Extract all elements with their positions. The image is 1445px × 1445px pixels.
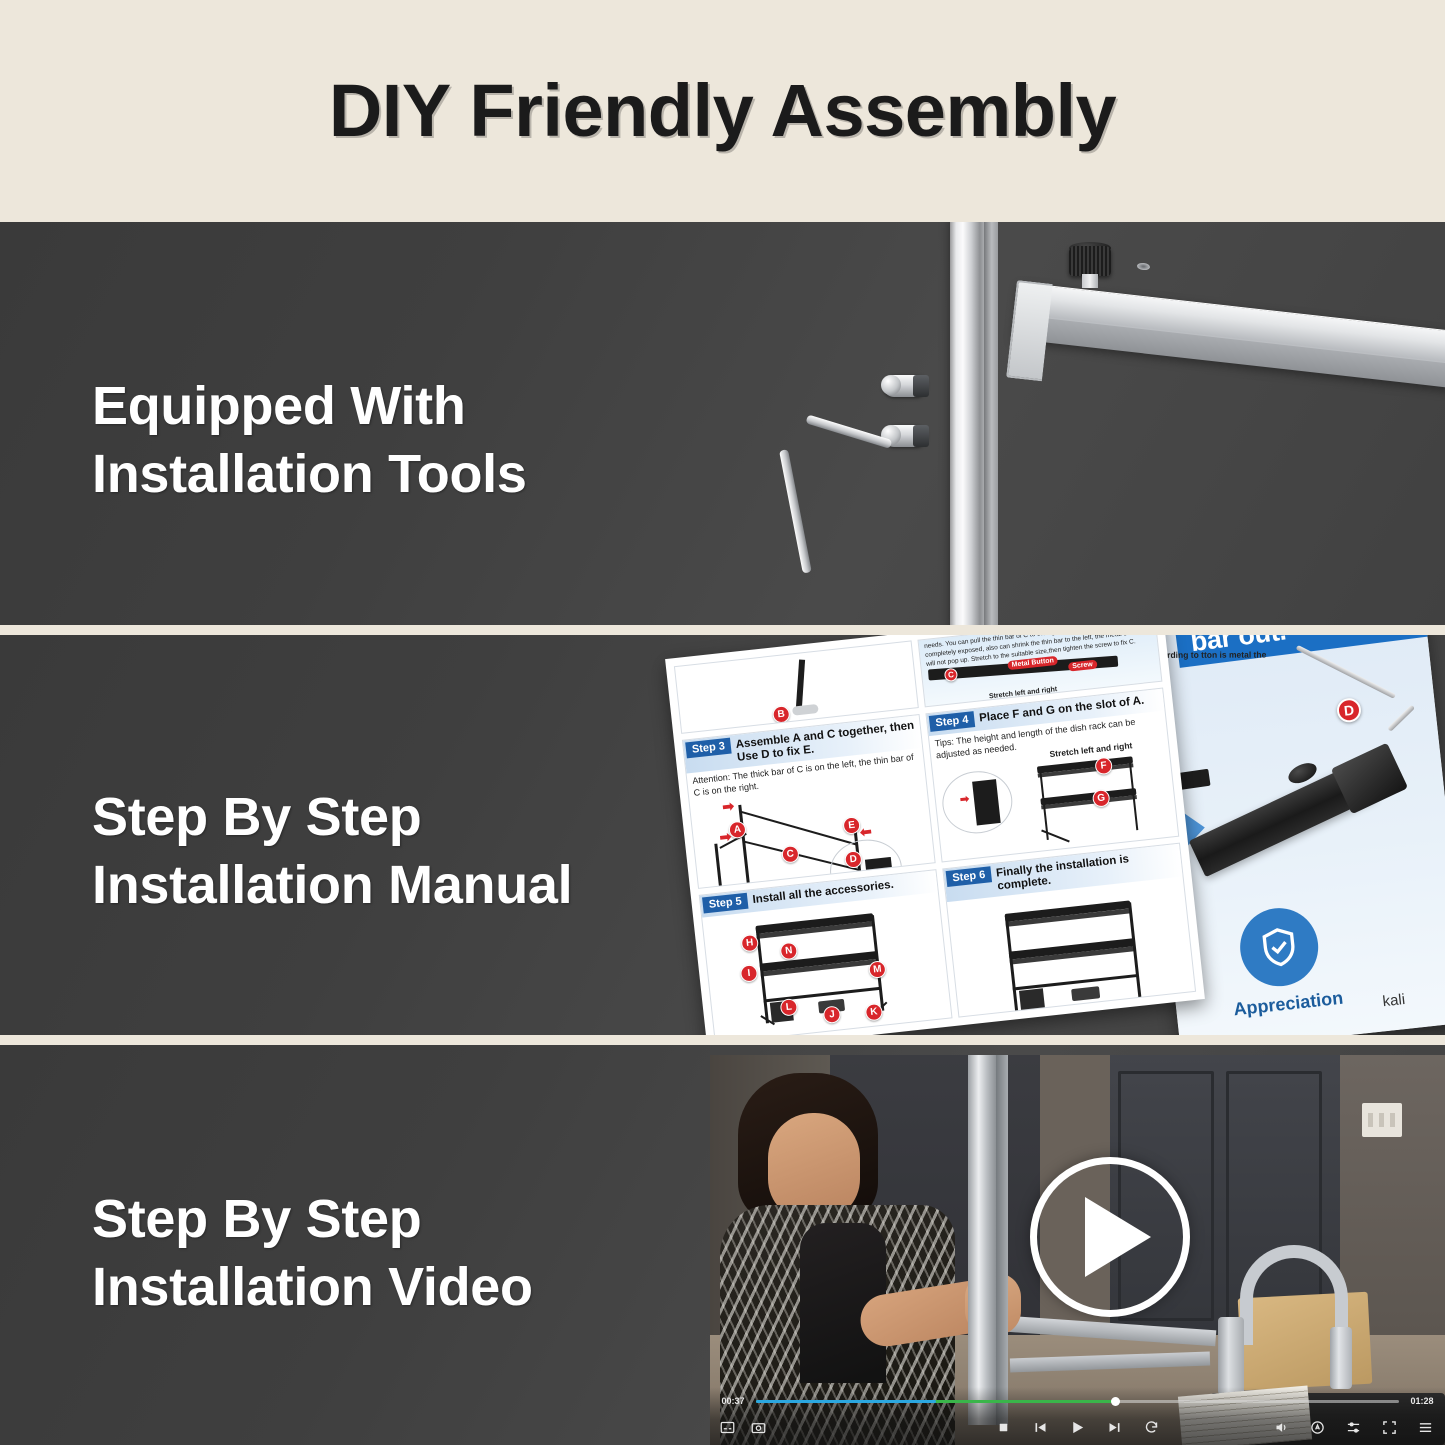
bar-face (1014, 315, 1445, 388)
badge-m: M (868, 960, 887, 979)
step-6-illustration (947, 877, 1196, 1018)
panel-2-caption-line2: Installation Manual (92, 851, 572, 919)
vertical-frame-post (950, 222, 984, 625)
badge-b: B (772, 705, 791, 724)
badge-i: I (740, 964, 759, 983)
step-3-tag: Step 3 (685, 738, 731, 759)
header-banner: DIY Friendly Assembly (0, 0, 1445, 222)
bolt-cap-lower (913, 425, 929, 447)
step-5-illustration: H I N M L J K (702, 892, 951, 1035)
badge-c: C (781, 845, 800, 864)
vertical-post-edge (984, 222, 998, 625)
knob-stem (1082, 274, 1098, 288)
video-total-time: 01:28 (1399, 1396, 1445, 1406)
previous-icon[interactable] (1031, 1418, 1050, 1437)
scene-light-switch (1362, 1103, 1402, 1137)
video-scrubber-handle[interactable] (1111, 1397, 1120, 1406)
manual-cell-step-5: Step 5 Install all the accessories. (699, 869, 953, 1035)
volume-icon[interactable] (1272, 1418, 1291, 1437)
manual-cell-step-6: Step 6 Finally the installation is compl… (942, 843, 1196, 1018)
panel-3-caption-line1: Step By Step (92, 1185, 533, 1253)
right-page-footer-word: kali (1382, 991, 1406, 1010)
video-controls-right (1272, 1418, 1435, 1437)
play-triangle (1085, 1197, 1151, 1277)
panel-3-caption-line2: Installation Video (92, 1253, 533, 1321)
red-arrow-1: ➡ (721, 797, 735, 815)
bar-bracket (1006, 280, 1053, 381)
step-5-tag: Step 5 (702, 893, 748, 914)
video-progress-row: 00:37 01:28 (710, 1395, 1445, 1407)
black-adjust-knob (1069, 246, 1111, 276)
badge-g: G (1092, 789, 1111, 808)
video-control-bar: 00:37 01:28 (710, 1387, 1445, 1445)
red-arrow-3: ⬅ (859, 823, 873, 841)
badge-c-bar: C (944, 668, 958, 682)
badge-f: F (1094, 757, 1113, 776)
installation-manual-pages: bar out. is fully e measure ccording to … (685, 635, 1445, 1035)
allen-wrench-short-arm (806, 414, 893, 448)
settings-sliders-icon[interactable] (1344, 1418, 1363, 1437)
allen-wrench-long-arm (779, 449, 812, 573)
infographic-root: DIY Friendly Assembly Equipped Wit (0, 0, 1445, 1445)
bolt-cap-upper (913, 375, 929, 397)
panel-3-caption: Step By Step Installation Video (92, 1185, 533, 1321)
step-4-tag: Step 4 (929, 711, 975, 732)
panel-1-caption-line2: Installation Tools (92, 440, 527, 508)
manual-cell-step-4: Step 4 Place F and G on the slot of A. T… (925, 688, 1179, 863)
fullscreen-icon[interactable] (1380, 1418, 1399, 1437)
ab-repeat-icon[interactable] (1308, 1418, 1327, 1437)
panel-2-caption: Step By Step Installation Manual (92, 783, 572, 919)
bolt-head-upper (881, 375, 901, 395)
page-title: DIY Friendly Assembly (329, 74, 1116, 148)
hardware-closeup-photo (765, 222, 1445, 625)
stop-icon[interactable] (994, 1418, 1013, 1437)
panel-1-caption: Equipped With Installation Tools (92, 372, 527, 508)
play-icon[interactable] (1068, 1418, 1087, 1437)
scene-rack-post-edge (996, 1055, 1008, 1425)
menu-icon[interactable] (1416, 1418, 1435, 1437)
next-icon[interactable] (1105, 1418, 1124, 1437)
badge-n: N (779, 942, 798, 961)
installation-video-player[interactable]: 00:37 01:28 (710, 1055, 1445, 1445)
scene-faucet-base (1218, 1317, 1244, 1395)
loop-icon[interactable] (1142, 1418, 1161, 1437)
screw-hole (1137, 262, 1151, 270)
step-6-tag: Step 6 (946, 866, 992, 887)
panel-divider-2 (0, 1035, 1445, 1045)
panel-1-caption-line1: Equipped With (92, 372, 527, 440)
manual-cell-step-3: Step 3 Assemble A and C together, then U… (682, 714, 936, 889)
manual-step-grid: B needs. You can pull the thin bar of C … (674, 635, 1196, 1035)
manual-page-left: B needs. You can pull the thin bar of C … (665, 635, 1205, 1035)
feature-panel-tools: Equipped With Installation Tools (0, 222, 1445, 625)
feature-panel-manual: bar out. is fully e measure ccording to … (0, 635, 1445, 1035)
video-current-time: 00:37 (710, 1396, 756, 1406)
panel-divider-1 (0, 625, 1445, 635)
feature-panel-video: 00:37 01:28 (0, 1045, 1445, 1445)
play-circle-icon[interactable] (1030, 1157, 1190, 1317)
horizontal-frame-bar (1014, 282, 1445, 387)
red-arrow-2: ➡ (719, 828, 733, 846)
scene-rack-post (968, 1055, 996, 1425)
video-played-bar (756, 1400, 936, 1403)
screw-label: Screw (1068, 660, 1097, 672)
red-arrow-4: ➡ (959, 793, 970, 807)
panel-2-caption-line1: Step By Step (92, 783, 572, 851)
video-progress-track[interactable] (756, 1400, 1399, 1403)
scene-faucet-spout (1330, 1327, 1352, 1389)
